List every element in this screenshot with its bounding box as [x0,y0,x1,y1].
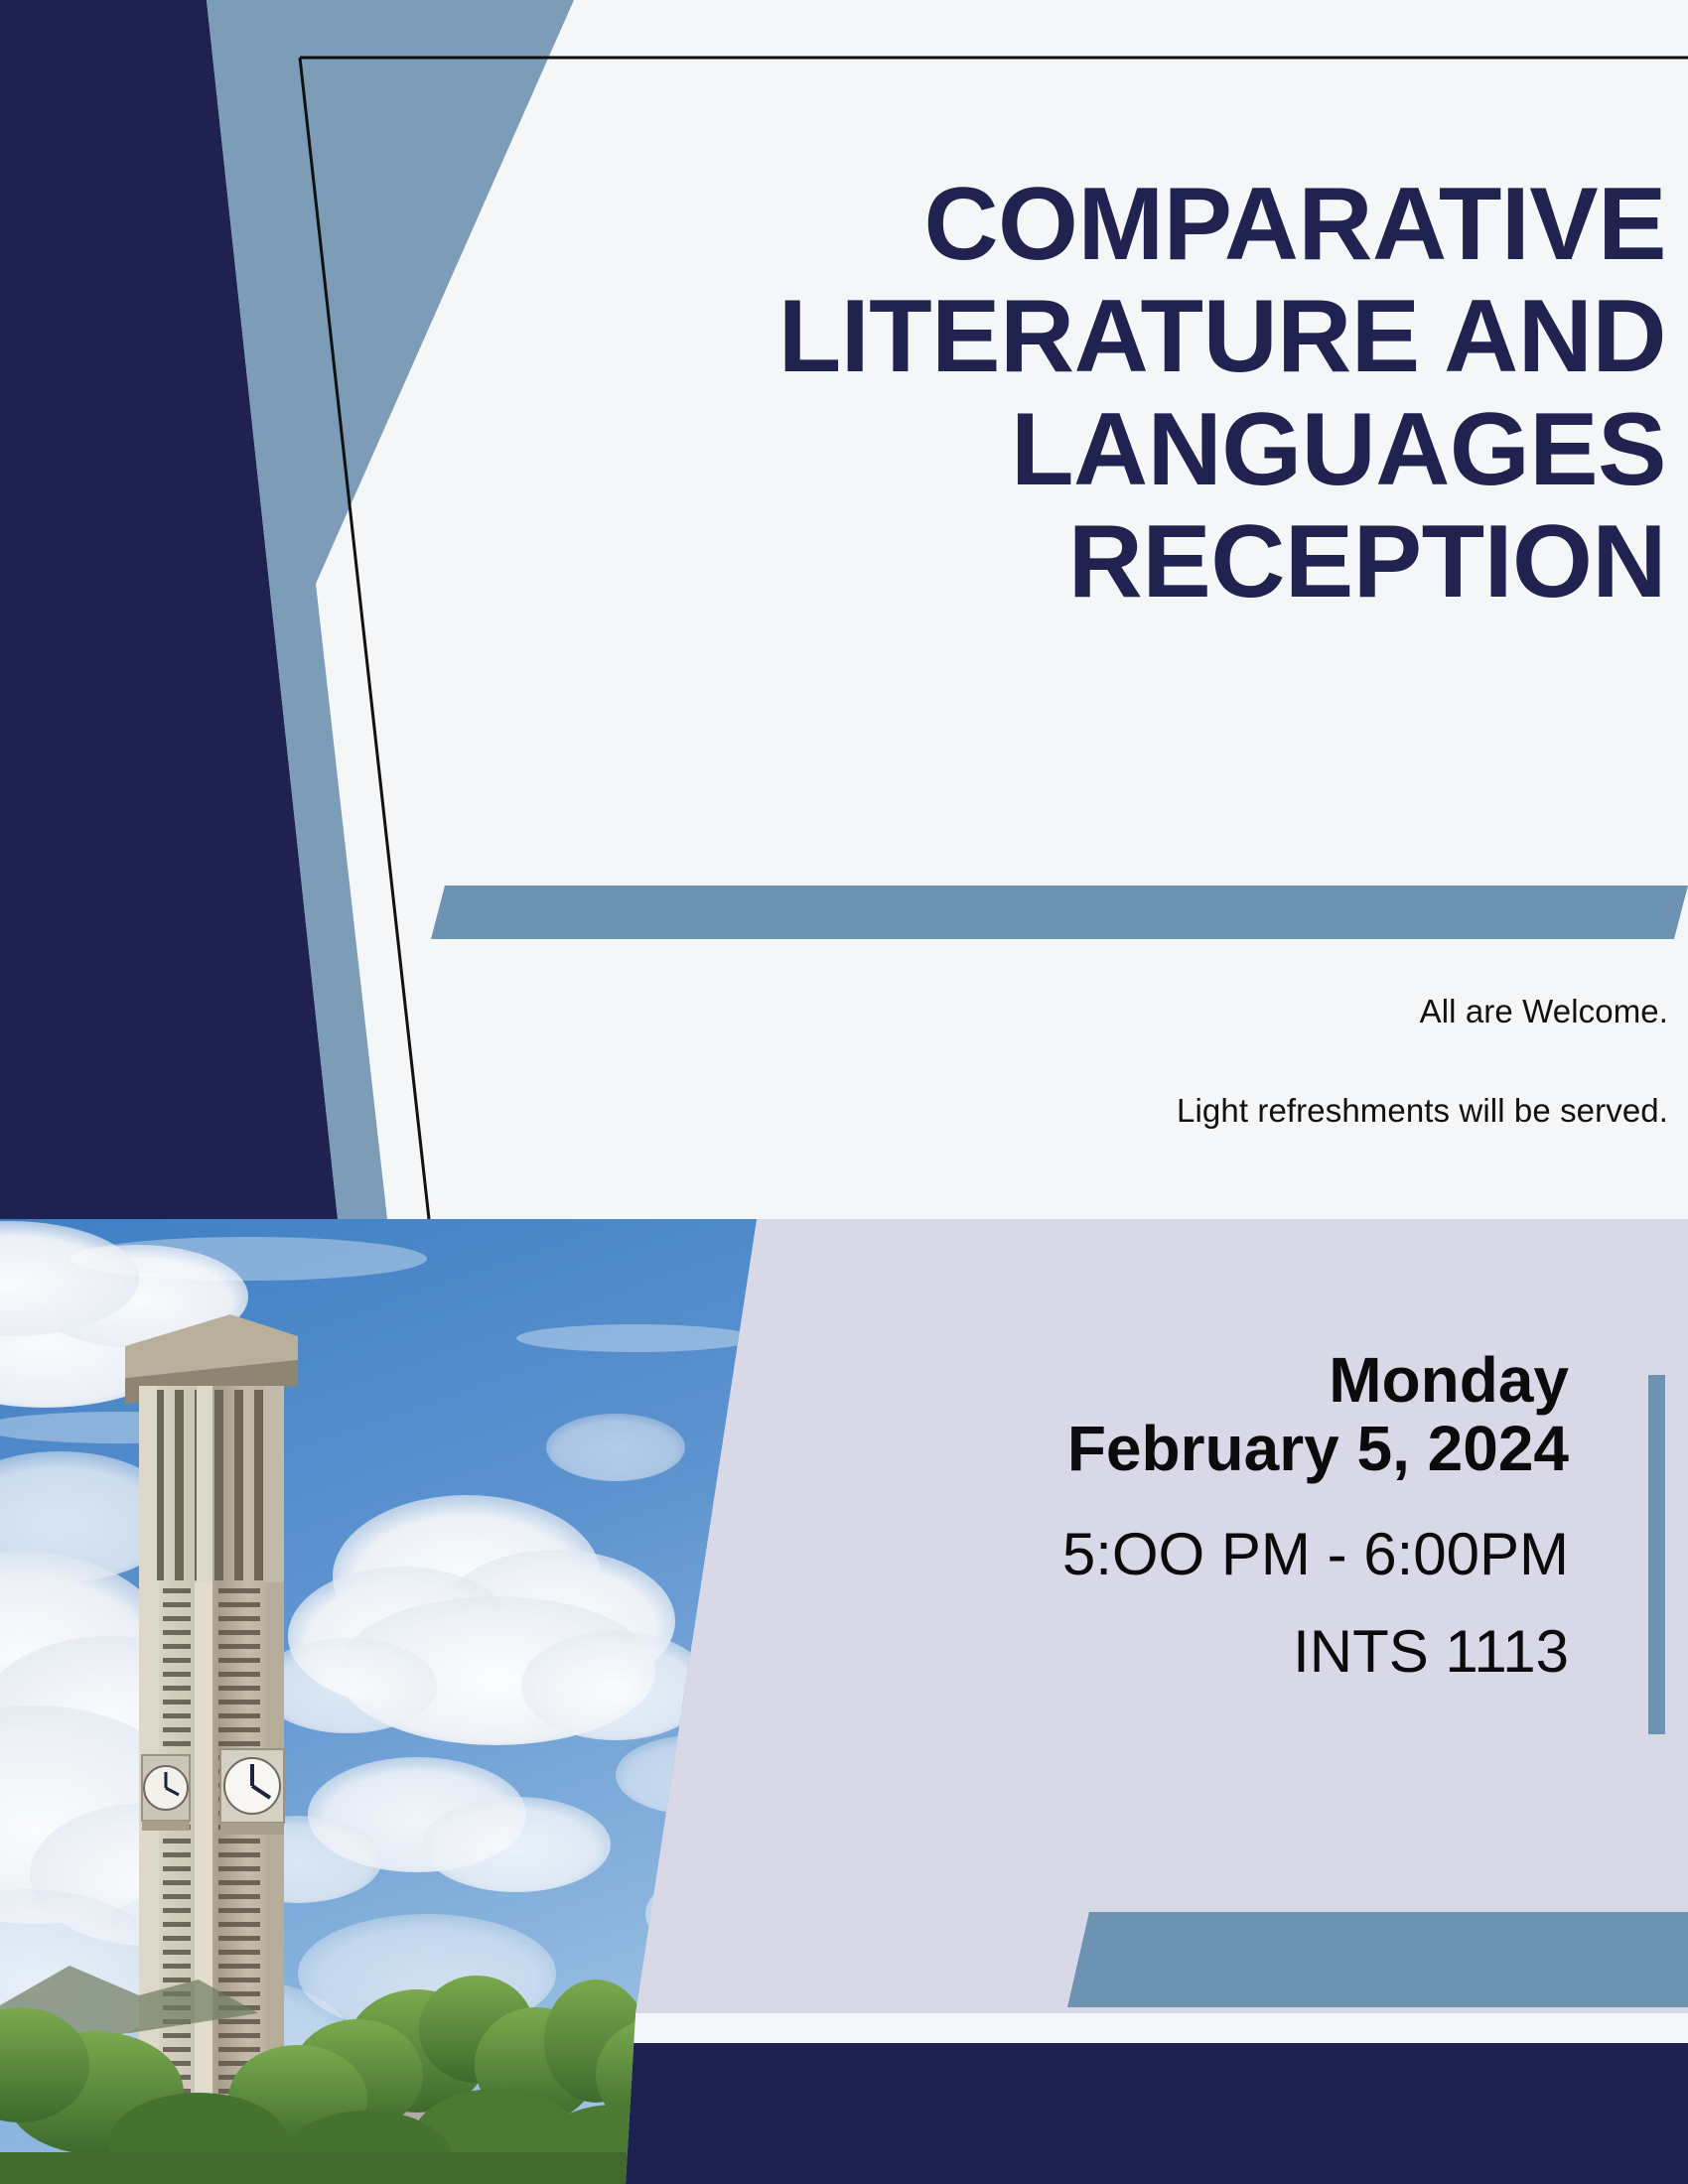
details-vertical-accent-rule [1648,1375,1665,1734]
event-date: February 5, 2024 [834,1415,1569,1483]
event-poster: COMPARATIVE LITERATURE AND LANGUAGES REC… [0,0,1688,2184]
bottom-accent-bar [1067,1912,1688,2007]
title-line-1: COMPARATIVE [733,169,1666,281]
title-accent-bar [431,886,1688,939]
event-details-block: Monday February 5, 2024 5:OO PM - 6:00PM… [834,1346,1569,1688]
refreshments-line: Light refreshments will be served. [477,1092,1668,1130]
title-line-3: LANGUAGES [733,394,1666,506]
event-location: INTS 1113 [834,1616,1569,1688]
event-day: Monday [834,1346,1569,1415]
poster-top-section: COMPARATIVE LITERATURE AND LANGUAGES REC… [0,0,1688,1219]
welcome-text-block: All are Welcome. Light refreshments will… [477,993,1668,1130]
event-time: 5:OO PM - 6:00PM [834,1519,1569,1590]
title-line-4: RECEPTION [733,506,1666,618]
poster-title: COMPARATIVE LITERATURE AND LANGUAGES REC… [733,169,1666,618]
welcome-line: All are Welcome. [477,993,1668,1030]
title-line-2: LITERATURE AND [733,281,1666,393]
poster-bottom-section: Monday February 5, 2024 5:OO PM - 6:00PM… [0,1219,1688,2184]
